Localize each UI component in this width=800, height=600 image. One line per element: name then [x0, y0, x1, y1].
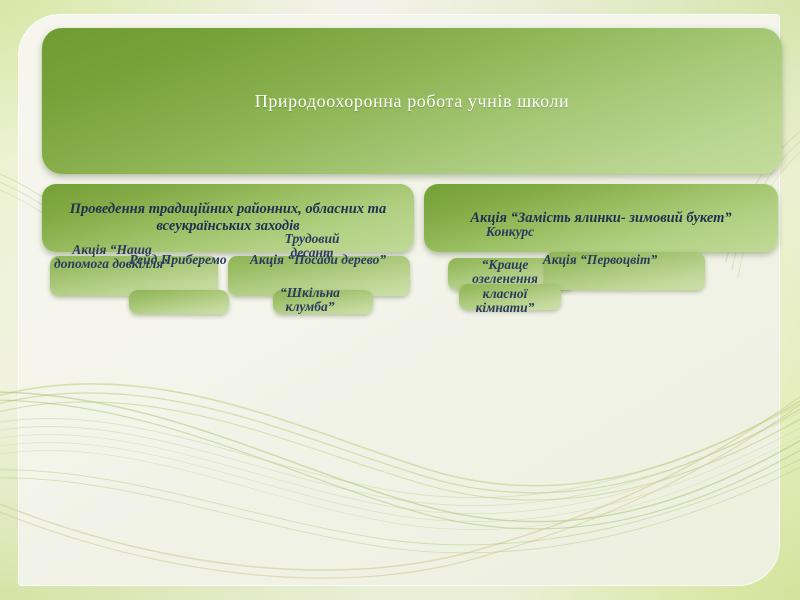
node-winter-bouquet[interactable]: Акція “Замість ялинки- зимовий букет”	[424, 184, 778, 252]
label-primrose-action: Акція “Первоцвіт”	[538, 253, 662, 267]
label-school-flowerbed: “Шкільна клумба”	[263, 286, 357, 315]
presentation-slide: Природоохоронна робота учнів школи Прове…	[0, 0, 800, 600]
label-plant-a-tree: Акція “Посади дерево”	[230, 253, 406, 267]
label-contest: Конкурс	[455, 225, 565, 239]
label-raid-cleanup: Рейд Приберемо	[128, 253, 228, 267]
pill-raid[interactable]	[129, 290, 229, 314]
slide-title-banner: Природоохоронна робота учнів школи	[42, 28, 782, 174]
page-title: Природоохоронна робота учнів школи	[255, 91, 570, 112]
node-traditional-events-label: Проведення традиційних районних, обласни…	[52, 201, 404, 234]
